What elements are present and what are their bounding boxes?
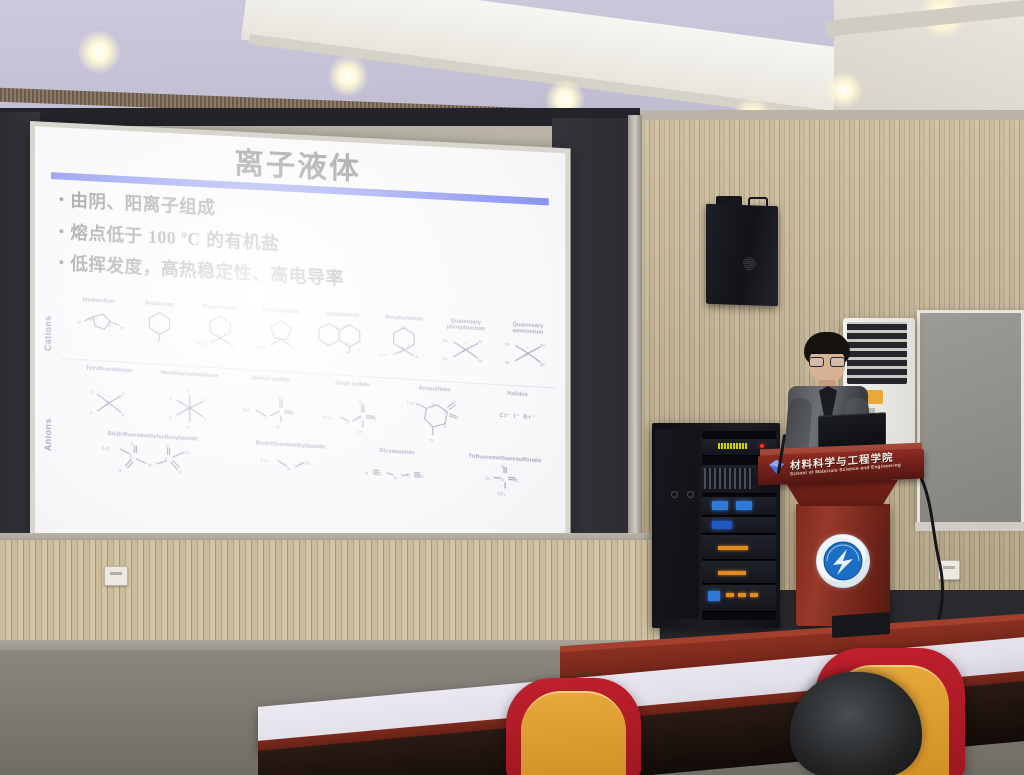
morpholinium-structure: ON+ H₃CR — [378, 322, 429, 360]
svg-text:C: C — [380, 472, 383, 477]
svg-text:F: F — [204, 417, 207, 422]
pyrrolidinium-structure: N+ H₃CR — [256, 314, 307, 351]
wall-outlet-left[interactable] — [104, 566, 128, 586]
bis-trifluoromethylamide-structure: F₃C N– CF₃ — [259, 451, 322, 479]
amplifier-indicator — [718, 546, 748, 550]
svg-text:N: N — [149, 463, 152, 468]
cation-morpholinium: Morpholinium ON+ H₃CR — [373, 314, 435, 362]
university-crest — [816, 534, 870, 588]
bullet2-pre: 熔点低于 — [70, 222, 148, 246]
svg-text:N: N — [346, 341, 349, 346]
svg-text:N: N — [108, 323, 111, 328]
svg-text:S: S — [277, 410, 280, 415]
svg-text:H₃C: H₃C — [197, 341, 205, 347]
eyeglass-lens-left — [809, 357, 824, 367]
anion-hexafluorophosphate: Hexafluorophosphate P– FF FF FF — [149, 369, 230, 433]
svg-text:R²: R² — [120, 326, 125, 331]
svg-text:N: N — [89, 317, 92, 322]
cation-pyridinium: Pyridinium N+ R — [129, 300, 190, 348]
svg-text:H₃C: H₃C — [242, 407, 250, 413]
svg-text:F: F — [170, 415, 173, 420]
svg-text:R: R — [346, 351, 349, 356]
rack-door-knob[interactable] — [671, 491, 678, 498]
quaternary-phosphonium-structure: P+ R⁴R¹ R³R² — [441, 332, 491, 365]
anion-octyl-sulfate: Octyl sulfate H₁₇C₈O SO OO⁻ — [312, 379, 394, 443]
svg-text:+: + — [464, 341, 467, 346]
svg-text:S: S — [501, 477, 504, 482]
anion-tetrafluoroborate: Tetrafluoroborate B– FF FF — [69, 364, 149, 428]
svg-text:H₁₇C₈: H₁₇C₈ — [323, 414, 333, 420]
patch-display — [708, 591, 720, 601]
lecture-hall-photo: 离子液体 由阴、阳离子组成 熔点低于 100 ºC 的有机盐 低挥发度，高热稳定… — [0, 0, 1024, 775]
svg-text:S: S — [359, 415, 362, 420]
slide-content: 离子液体 由阴、阳离子组成 熔点低于 100 ºC 的有机盐 低挥发度，高热稳定… — [35, 126, 565, 580]
svg-text:B: B — [106, 402, 109, 407]
svg-text:O⁻: O⁻ — [485, 476, 491, 481]
svg-text:O: O — [166, 444, 170, 449]
svg-text:N: N — [156, 330, 159, 335]
wall-mounted-speaker — [706, 204, 778, 307]
anion-bis-trifluoromethylsulfonyl-amide: Bis(trifluoromethylsulfonyl)amide F₃C — [69, 428, 237, 482]
chair-left[interactable] — [506, 678, 641, 775]
ceiling-downlight — [328, 56, 368, 96]
svg-text:R⁴: R⁴ — [505, 342, 510, 347]
slide-bullet-list: 由阴、阳离子组成 熔点低于 100 ºC 的有机盐 低挥发度，高热稳定性、高电导… — [45, 189, 555, 300]
svg-text:F: F — [204, 398, 207, 403]
anion-label: Octyl sulfate — [312, 379, 394, 390]
svg-text:C: C — [407, 473, 410, 478]
cation-quaternary-phosphonium: Quaternary phosphonium P+ R⁴R¹ R³R² — [435, 317, 497, 365]
svg-text:R¹: R¹ — [478, 339, 483, 344]
svg-text:R³: R³ — [505, 360, 510, 365]
crest-graphic — [817, 535, 869, 587]
svg-text:R¹: R¹ — [540, 343, 545, 348]
piperidinium-structure: N+ H₃CR — [195, 311, 246, 348]
anion-label: Methyl sulfate — [230, 374, 311, 385]
svg-text:P: P — [463, 348, 466, 353]
anion-trifluoromethanesulfonate: Trifluoromethanesulfonate O S O⁻ O CF — [451, 452, 559, 503]
svg-text:F₃C: F₃C — [261, 458, 268, 464]
projection-screen: 离子液体 由阴、阳离子组成 熔点低于 100 ºC 的有机盐 低挥发度，高热稳定… — [35, 126, 565, 580]
wireless-receiver-display — [736, 501, 752, 510]
svg-text:N: N — [443, 424, 446, 429]
bis-trifluoromethylsulfonylamide-structure: F₃C OS O N– OS OCF₃ — [99, 438, 208, 481]
svg-text:N: N — [401, 345, 404, 350]
bullet2-number: 100 ºC — [148, 226, 201, 249]
projection-screen-frame: 离子液体 由阴、阳离子组成 熔点低于 100 ºC 的有机盐 低挥发度，高热稳定… — [30, 121, 571, 586]
wireless-receiver-display — [712, 521, 732, 529]
svg-text:O: O — [179, 470, 183, 475]
cations-row: Imidazolium R¹R² NN + Pyridinium — [69, 296, 559, 369]
svg-text:R: R — [230, 343, 233, 348]
svg-text:O: O — [264, 415, 268, 420]
svg-text:O: O — [432, 402, 436, 407]
svg-text:R: R — [415, 355, 418, 359]
pyridinium-structure: N+ R — [136, 308, 182, 345]
svg-text:F₃C: F₃C — [103, 446, 110, 451]
svg-text:R⁴: R⁴ — [443, 338, 448, 343]
svg-text:R²: R² — [540, 362, 545, 367]
halide-ion-labels: Cl⁻ I⁻ Br⁻ — [476, 412, 559, 424]
svg-text:F: F — [187, 389, 190, 394]
svg-text:N: N — [525, 352, 528, 357]
acesulfame-structure: H₃CO SO ON O — [406, 395, 464, 447]
podium-column — [784, 480, 898, 506]
cation-pyrrolidinium: Pyrrolidinium N+ H₃CR — [251, 307, 312, 355]
dicyanamide-structure: NC N– CN — [364, 460, 430, 489]
svg-text:O: O — [430, 438, 434, 443]
anion-dicyanamide: Dicyanamide NC N– CN — [344, 446, 451, 497]
svg-text:+: + — [284, 333, 287, 338]
methyl-sulfate-structure: H₃CO SO OO⁻ — [242, 389, 299, 433]
svg-text:O: O — [452, 400, 456, 405]
cations-row-label: Cations — [43, 297, 53, 352]
imidazolium-structure: R¹R² NN + — [71, 304, 127, 341]
svg-text:N: N — [394, 476, 397, 481]
patch-led — [726, 593, 734, 597]
quinolinium-structure: N+ R — [313, 318, 372, 356]
wall-frame-trim — [628, 115, 642, 545]
svg-text:S: S — [165, 457, 168, 462]
anion-label: Tetrafluoroborate — [69, 364, 149, 375]
anion-label: Halides — [476, 389, 559, 401]
trifluoromethanesulfonate-structure: O S O⁻ O CF₃ — [478, 462, 532, 502]
svg-text:O: O — [291, 411, 295, 416]
presenter-hair-fringe — [806, 340, 848, 354]
presenter-shirt — [819, 386, 837, 416]
chair-seatback — [521, 691, 626, 775]
wireless-receiver-display — [712, 501, 728, 510]
svg-text:N: N — [217, 333, 220, 338]
svg-text:H₃C: H₃C — [407, 400, 415, 406]
svg-text:S: S — [130, 455, 133, 460]
patch-led — [750, 593, 758, 597]
svg-text:F: F — [187, 425, 190, 430]
led-level-meter — [718, 443, 748, 449]
svg-text:CF₃: CF₃ — [498, 491, 506, 497]
dark-wall-band — [0, 108, 640, 126]
svg-text:R: R — [156, 339, 159, 344]
svg-text:O: O — [131, 442, 135, 447]
svg-text:CF₃: CF₃ — [183, 450, 191, 456]
anion-halides: Halides Cl⁻ I⁻ Br⁻ — [476, 389, 559, 454]
svg-text:O: O — [373, 417, 377, 422]
svg-text:CF₃: CF₃ — [304, 461, 312, 467]
slatted-wainscot — [0, 540, 660, 650]
svg-text:N: N — [287, 467, 290, 472]
podium: 材料科学与工程学院 School of Materials Science an… — [758, 452, 924, 630]
anion-bis-trifluoromethyl-amide: Bis(trifluoromethyl)amide F₃C N– CF₃ — [237, 439, 343, 490]
podium-body — [796, 504, 890, 626]
anion-label: Acesulfame — [394, 384, 476, 395]
eyeglass-lens-right — [830, 357, 845, 367]
power-led — [760, 444, 764, 448]
svg-text:R³: R³ — [443, 356, 448, 361]
svg-text:R: R — [292, 347, 295, 352]
svg-text:S: S — [443, 410, 446, 415]
anion-methyl-sulfate: Methyl sulfate H₃CO SO OO⁻ — [230, 374, 311, 438]
svg-text:F: F — [170, 396, 173, 401]
svg-text:R²: R² — [478, 358, 483, 363]
rack-door[interactable] — [655, 429, 699, 619]
svg-text:F: F — [90, 390, 93, 395]
cation-quinolinium: Quinolinium N+ R — [312, 310, 373, 358]
svg-text:–: – — [106, 394, 109, 399]
desk-object — [832, 612, 890, 638]
hexafluorophosphate-structure: P– FF FF FF — [165, 383, 216, 432]
svg-text:O: O — [119, 468, 123, 473]
svg-text:O⁻: O⁻ — [276, 425, 282, 430]
svg-text:H₃C: H₃C — [379, 353, 387, 359]
svg-text:R¹: R¹ — [77, 320, 82, 325]
ceiling-downlight — [78, 31, 120, 73]
anion-label: Dicyanamide — [344, 446, 451, 459]
cation-quaternary-ammonium: Quaternary ammonium N+ R⁴R¹ R³R² — [497, 321, 559, 369]
svg-text:N: N — [278, 337, 281, 342]
bullet2-post: 的有机盐 — [201, 229, 280, 253]
svg-text:N: N — [421, 474, 424, 479]
svg-text:F: F — [90, 411, 93, 416]
presenter-eyeglasses — [809, 357, 845, 365]
ceiling-downlight — [826, 72, 862, 108]
anion-acesulfame: Acesulfame H₃CO SO ON O — [394, 384, 476, 448]
svg-text:+: + — [526, 345, 529, 350]
svg-text:F: F — [122, 413, 125, 418]
svg-text:O⁻: O⁻ — [358, 430, 364, 435]
cation-imidazolium: Imidazolium R¹R² NN + — [69, 296, 129, 343]
tetrafluoroborate-structure: B– FF FF — [84, 382, 134, 425]
svg-text:O: O — [514, 478, 518, 483]
svg-text:O: O — [346, 420, 350, 425]
mixer-control-grid[interactable] — [704, 468, 754, 489]
svg-text:O: O — [455, 416, 459, 421]
svg-text:P: P — [187, 407, 190, 412]
svg-text:+: + — [95, 316, 98, 321]
amplifier-indicator — [718, 571, 746, 575]
cation-piperidinium: Piperidinium N+ H₃CR — [190, 303, 251, 351]
svg-text:N: N — [365, 471, 368, 476]
svg-text:F: F — [122, 392, 125, 397]
octyl-sulfate-structure: H₁₇C₈O SO OO⁻ — [323, 394, 382, 438]
rack-door-knob[interactable] — [687, 491, 694, 498]
anion-label: Bis(trifluoromethyl)amide — [237, 439, 343, 452]
svg-text:–: – — [400, 471, 403, 476]
patch-led — [738, 593, 746, 597]
quaternary-ammonium-structure: N+ R⁴R¹ R³R² — [503, 335, 553, 369]
anions-row-label: Anions — [43, 401, 53, 452]
svg-text:+: + — [353, 338, 356, 343]
svg-text:H₃C: H₃C — [258, 345, 266, 351]
anion-label: Hexafluorophosphate — [149, 369, 230, 380]
